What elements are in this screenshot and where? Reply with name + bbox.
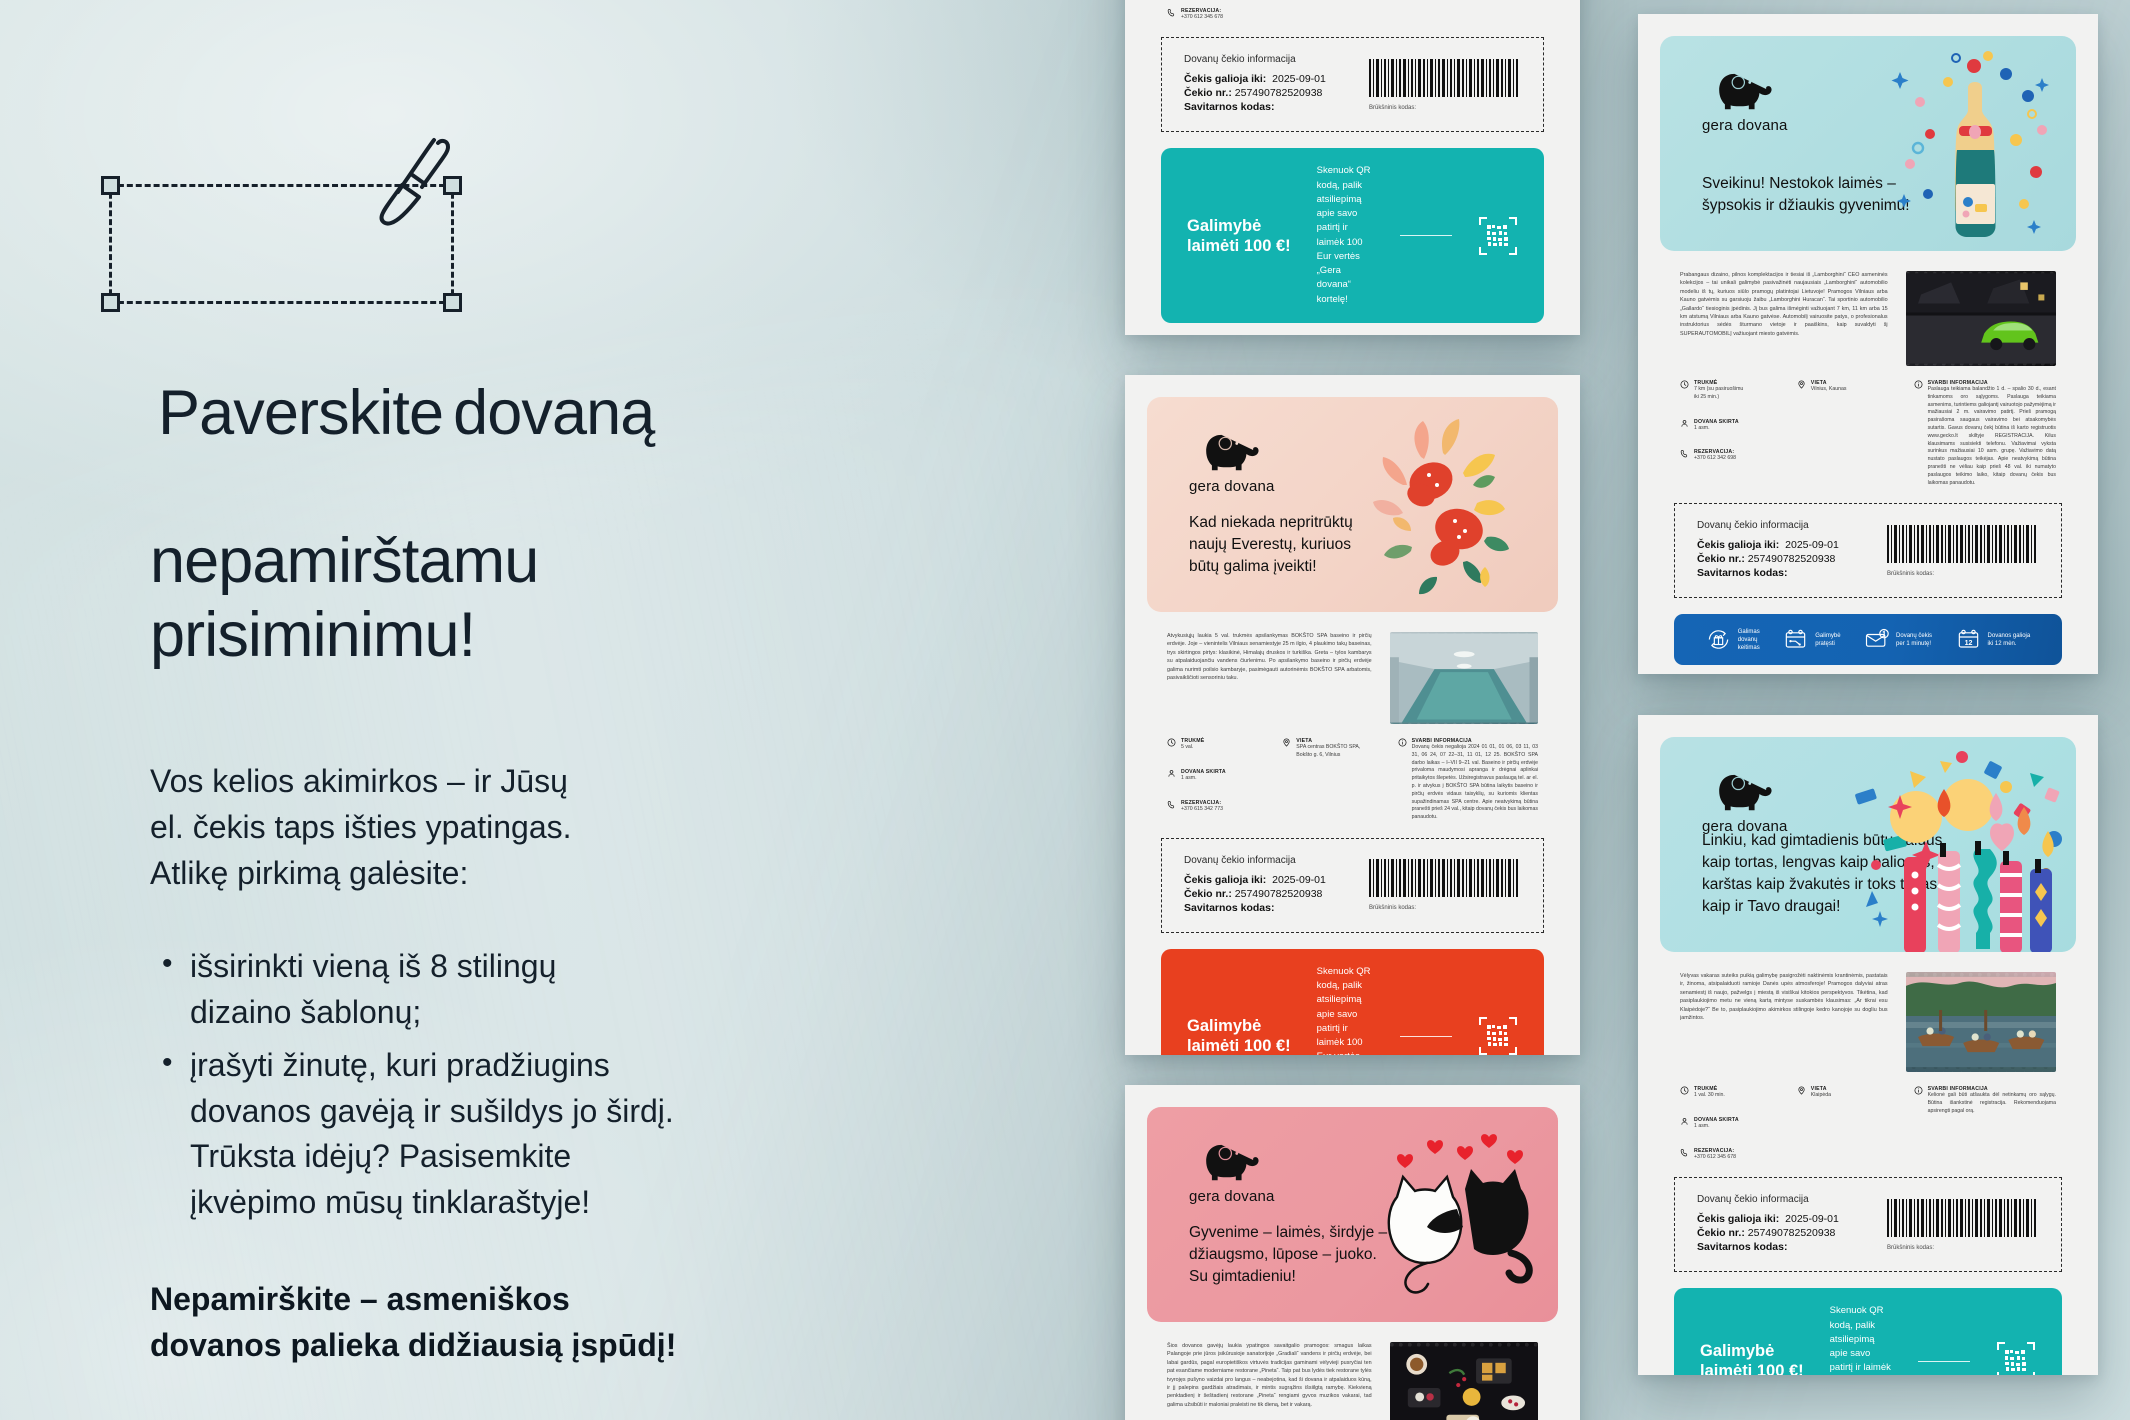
meta-recipients: DOVANA SKIRTA1 asm. xyxy=(1680,419,1787,433)
person-icon xyxy=(1680,1117,1689,1126)
brand-name: gera dovana xyxy=(1189,1188,1275,1205)
page-title: Paverskitedovaną nepamirštamu prisiminim… xyxy=(150,230,910,672)
coupon-valid-label: Čekis galioja iki: xyxy=(1697,539,1779,551)
meta-value: Paslauga teikiama balandžio 1 d. – spali… xyxy=(1928,386,2056,487)
meta-important: SVARBI INFORMACIJADovanų čekis negalioja… xyxy=(1398,738,1538,822)
promo-banner[interactable]: Galimybė laimėti 100 €! Skenuok QR kodą,… xyxy=(1161,949,1544,1055)
voucher-card-birthday-cats[interactable]: gera dovana Gyvenime – laimės, širdyje –… xyxy=(1125,1085,1580,1420)
promo-text: Skenuok QR kodą, palik atsiliepimą apie … xyxy=(1317,965,1374,1055)
brand-logo: gera dovana xyxy=(1702,771,1788,835)
meta-recipients: DOVANA SKIRTA1 asm. xyxy=(1680,1117,1787,1131)
meta-reservation: REZERVACIJA:+370 612 345 678 xyxy=(1680,1148,1787,1162)
brand-logo: gera dovana xyxy=(1702,70,1788,134)
coupon-valid-label: Čekis galioja iki: xyxy=(1697,1213,1779,1225)
meta-duration: TRUKMĖ5 val. xyxy=(1167,738,1272,752)
coupon-valid-value: 2025-09-01 xyxy=(1272,874,1326,886)
voucher-description: Prabangaus dizaino, pilnos komplektacijo… xyxy=(1680,271,1888,366)
promo-title: Galimybė laimėti 100 €! xyxy=(1187,1016,1291,1055)
coupon-number-value: 257490782520938 xyxy=(1748,553,1836,565)
promo-title: Galimybė laimėti 100 €! xyxy=(1700,1341,1804,1375)
closing-paragraph: Nepamirškite – asmeniškos dovanos paliek… xyxy=(150,1277,910,1368)
qr-code-icon[interactable] xyxy=(1478,1016,1518,1055)
meta-value: Klaipėda xyxy=(1811,1092,1831,1100)
envelope-one-minute-icon xyxy=(1864,627,1889,652)
promo-banner[interactable]: Galimybė laimėti 100 €! Skenuok QR kodą,… xyxy=(1674,1288,2062,1375)
list-item: įrašyti žinutę, kuri pradžiugins dovanos… xyxy=(150,1043,910,1225)
voucher-description: Atvykusiųjų laukia 5 val. trukmės apsila… xyxy=(1167,632,1372,724)
voucher-body: Prabangaus dizaino, pilnos komplektacijo… xyxy=(1660,251,2076,366)
meta-label: DOVANA SKIRTA xyxy=(1694,1117,1739,1123)
coupon-block: Dovanų čekio informacija Čekis galioja i… xyxy=(1161,838,1544,933)
info-icon xyxy=(1914,1086,1923,1095)
coupon-selfservice-label: Savitarnos kodas: xyxy=(1697,567,1787,579)
meta-important: SVARBI INFORMACIJAKelionė gali būti atša… xyxy=(1914,1086,2056,1115)
promo-divider xyxy=(1400,1036,1452,1037)
calendar-extend-icon xyxy=(1783,627,1808,652)
headline-line1-rest: dovaną xyxy=(453,378,654,448)
meta-label: DOVANA SKIRTA xyxy=(1181,769,1226,775)
voucher-card-everest[interactable]: gera dovana Kad niekada nepritrūktų nauj… xyxy=(1125,375,1580,1055)
promo-divider xyxy=(1400,235,1452,236)
coupon-selfservice-label: Savitarnos kodas: xyxy=(1184,902,1274,914)
meta-place: VIETASPA centras BOKŠTO SPA, Bokšto g. 6… xyxy=(1282,738,1387,760)
calendar-12-icon: 12 xyxy=(1956,627,1981,652)
benefit-gift-exchange: Galimas dovanų keitimas xyxy=(1706,627,1760,652)
qr-code-icon[interactable] xyxy=(1478,216,1518,256)
barcode-icon xyxy=(1887,1199,2039,1237)
autumn-flowers-illustration xyxy=(1359,411,1524,601)
coupon-title: Dovanų čekio informacija xyxy=(1697,520,1839,531)
list-item: išsirinkti vieną iš 8 stilingų dizaino š… xyxy=(150,944,910,1035)
meta-value: 5 val. xyxy=(1181,744,1204,752)
meta-important: SVARBI INFORMACIJAPaslauga teikiama bala… xyxy=(1914,380,2056,487)
meta-label: DOVANA SKIRTA xyxy=(1694,419,1739,425)
voucher-hero: gera dovana Kad niekada nepritrūktų nauj… xyxy=(1147,397,1558,612)
promo-divider xyxy=(1918,1361,1970,1362)
coupon-valid-value: 2025-09-01 xyxy=(1785,539,1839,551)
indoor-swimming-pool-photo xyxy=(1390,632,1538,724)
headline-selected-word: Paverskite xyxy=(150,377,453,451)
brand-name: gera dovana xyxy=(1189,478,1275,495)
meta-duration: TRUKMĖ7 km (su pasiruošimu iki 25 min.) xyxy=(1680,380,1787,402)
promo-title: Galimybė laimėti 100 €! xyxy=(1187,216,1291,256)
brand-logo: gera dovana xyxy=(1189,1141,1275,1205)
meta-label: REZERVACIJA: xyxy=(1181,8,1223,14)
meta-value: 7 km (su pasiruošimu iki 25 min.) xyxy=(1694,386,1743,402)
meta-reservation: REZERVACIJA:+370 612 342 698 xyxy=(1680,449,1787,463)
meta-value: +370 612 345 678 xyxy=(1181,14,1223,22)
feature-bullet-list: išsirinkti vieną iš 8 stilingų dizaino š… xyxy=(150,944,910,1225)
brand-logo: gera dovana xyxy=(1189,431,1275,495)
voucher-hero: gera dovana Sveikinu! Nestokok laimės – … xyxy=(1660,36,2076,251)
greeting-message: Gyvenime – laimės, širdyje – džiaugsmo, … xyxy=(1189,1222,1387,1288)
voucher-meta-row: TRUKMĖ7 km (su pasiruošimu iki 25 min.) … xyxy=(1660,366,2076,487)
elephant-icon xyxy=(1201,431,1263,475)
coupon-title: Dovanų čekio informacija xyxy=(1697,1194,1839,1205)
voucher-body: Šios dovanos gavėjų laukia ypatingos sav… xyxy=(1147,1322,1558,1420)
meta-value: 1 val. 30 min. xyxy=(1694,1092,1725,1100)
voucher-card-champagne[interactable]: gera dovana Sveikinu! Nestokok laimės – … xyxy=(1638,14,2098,674)
person-icon xyxy=(1680,419,1689,428)
canoe-river-photo xyxy=(1906,972,2056,1072)
meta-value: +370 612 342 698 xyxy=(1694,455,1736,463)
voucher-hero: gera dovana Gyvenime – laimės, širdyje –… xyxy=(1147,1107,1558,1322)
voucher-body: Vėlyvas vakaras suteiks puikią galimybę … xyxy=(1660,952,2076,1072)
phone-icon xyxy=(1680,449,1689,458)
voucher-description: Šios dovanos gavėjų laukia ypatingos sav… xyxy=(1167,1342,1372,1420)
meta-duration: TRUKMĖ1 val. 30 min. xyxy=(1680,1086,1787,1100)
meta-label: REZERVACIJA: xyxy=(1181,800,1223,806)
benefit-12-months: 12 Dovanos galioja iki 12 mėn. xyxy=(1956,627,2031,652)
elephant-icon xyxy=(1714,70,1776,114)
green-sports-car-photo xyxy=(1906,271,2056,366)
barcode-icon xyxy=(1369,859,1521,897)
promo-banner[interactable]: Galimybė laimėti 100 €! Skenuok QR kodą,… xyxy=(1161,148,1544,323)
meta-place: VIETAKlaipėda xyxy=(1797,1086,1904,1100)
coupon-number-value: 257490782520938 xyxy=(1235,888,1323,900)
benefit-label: Dovanos galioja iki 12 mėn. xyxy=(1988,632,2031,648)
coupon-block: Dovanų čekio informacija Čekis galioja i… xyxy=(1674,503,2062,598)
meta-label: REZERVACIJA: xyxy=(1694,1148,1736,1154)
phone-icon xyxy=(1167,800,1176,809)
meta-value: +370 612 345 678 xyxy=(1694,1154,1736,1162)
meta-value: 1 asm. xyxy=(1694,1123,1739,1131)
voucher-card-top-center[interactable]: TRUKMĖ1 val. 30 min. DOVANA SKIRTA1 asm.… xyxy=(1125,0,1580,335)
meta-value: SPA centras BOKŠTO SPA, Bokšto g. 6, Vil… xyxy=(1296,744,1360,760)
gift-exchange-icon xyxy=(1706,627,1731,652)
barcode-icon xyxy=(1369,59,1521,97)
headline-block: Paverskitedovaną nepamirštamu prisiminim… xyxy=(150,230,910,672)
barcode-icon xyxy=(1887,525,2039,563)
coupon-number-label: Čekio nr.: xyxy=(1184,888,1232,900)
person-icon xyxy=(1167,769,1176,778)
meta-reservation: REZERVACIJA:+370 615 342 773 xyxy=(1167,800,1272,814)
meta-value: 1 asm. xyxy=(1181,775,1226,783)
headline-line3: prisiminimu! xyxy=(150,600,475,670)
voucher-meta-row: TRUKMĖ1 val. 30 min. DOVANA SKIRTA1 asm.… xyxy=(1147,0,1558,21)
svg-text:12: 12 xyxy=(1964,639,1972,647)
benefit-one-minute: Dovanų čekis per 1 minutę! xyxy=(1864,627,1932,652)
coupon-number-value: 257490782520938 xyxy=(1748,1227,1836,1239)
voucher-description: Vėlyvas vakaras suteiks puikią galimybę … xyxy=(1680,972,1888,1072)
info-icon xyxy=(1914,380,1923,389)
elephant-icon xyxy=(1201,1141,1263,1185)
meta-value: Dovanų čekis negalioja 2024 01 01, 01 06… xyxy=(1412,744,1538,822)
voucher-hero: gera dovana Linkiu, kad gimtadienis būtų… xyxy=(1660,737,2076,952)
voucher-meta-row: TRUKMĖ1 val. 30 min. DOVANA SKIRTA1 asm.… xyxy=(1660,1072,2076,1161)
coupon-title: Dovanų čekio informacija xyxy=(1184,855,1326,866)
brand-name: gera dovana xyxy=(1702,117,1788,134)
birthday-candles-illustration xyxy=(1840,745,2070,952)
qr-code-icon[interactable] xyxy=(1996,1341,2036,1375)
benefit-extend: Galimybė pratęsti xyxy=(1783,627,1840,652)
location-pin-icon xyxy=(1797,380,1806,389)
coupon-number-label: Čekio nr.: xyxy=(1184,87,1232,99)
barcode-label: Brūkšninis kodas: xyxy=(1369,905,1521,911)
phone-icon xyxy=(1680,1148,1689,1157)
meta-place: VIETAVilnius, Kaunas xyxy=(1797,380,1904,394)
meta-value: Kelionė gali būti atšaukta dėl netinkamų… xyxy=(1928,1092,2056,1115)
paintbrush-icon xyxy=(378,137,452,227)
voucher-meta-row: TRUKMĖ5 val. DOVANA SKIRTA1 asm. REZERVA… xyxy=(1147,724,1558,822)
coupon-selfservice-label: Savitarnos kodas: xyxy=(1697,1241,1787,1253)
elephant-icon xyxy=(1714,771,1776,815)
voucher-body: Atvykusiųjų laukia 5 val. trukmės apsila… xyxy=(1147,612,1558,724)
promo-text: Skenuok QR kodą, palik atsiliepimą apie … xyxy=(1830,1304,1892,1375)
marketing-copy-column: Paverskitedovaną nepamirštamu prisiminim… xyxy=(150,230,910,1368)
coupon-valid-label: Čekis galioja iki: xyxy=(1184,73,1266,85)
coupon-number-label: Čekio nr.: xyxy=(1697,553,1745,565)
coupon-valid-value: 2025-09-01 xyxy=(1785,1213,1839,1225)
meta-recipients: DOVANA SKIRTA1 asm. xyxy=(1167,769,1272,783)
info-icon xyxy=(1398,738,1407,747)
clock-icon xyxy=(1680,380,1689,389)
coupon-block: Dovanų čekio informacija Čekis galioja i… xyxy=(1674,1177,2062,1272)
clock-icon xyxy=(1167,738,1176,747)
meta-reservation: REZERVACIJA:+370 612 345 678 xyxy=(1167,8,1272,22)
coupon-number-value: 257490782520938 xyxy=(1235,87,1323,99)
location-pin-icon xyxy=(1797,1086,1806,1095)
coupon-block: Dovanų čekio informacija Čekis galioja i… xyxy=(1161,37,1544,132)
promo-text: Skenuok QR kodą, palik atsiliepimą apie … xyxy=(1317,164,1374,307)
benefit-label: Galimybė pratęsti xyxy=(1815,632,1840,648)
benefit-label: Dovanų čekis per 1 minutę! xyxy=(1896,632,1932,648)
voucher-card-birthday-candles[interactable]: gera dovana Linkiu, kad gimtadienis būtų… xyxy=(1638,715,2098,1375)
meta-value: 1 asm. xyxy=(1694,425,1739,433)
coupon-number-label: Čekio nr.: xyxy=(1697,1227,1745,1239)
coupon-valid-value: 2025-09-01 xyxy=(1272,73,1326,85)
brunch-table-photo xyxy=(1390,1342,1538,1420)
intro-paragraph: Vos kelios akimirkos – ir Jūsų el. čekis… xyxy=(150,758,910,896)
barcode-label: Brūkšninis kodas: xyxy=(1887,571,2039,577)
coupon-selfservice-label: Savitarnos kodas: xyxy=(1184,101,1274,113)
coupon-valid-label: Čekis galioja iki: xyxy=(1184,874,1266,886)
barcode-label: Brūkšninis kodas: xyxy=(1369,105,1521,111)
barcode-label: Brūkšninis kodas: xyxy=(1887,1245,2039,1251)
benefit-label: Galimas dovanų keitimas xyxy=(1738,628,1760,652)
greeting-message: Kad niekada nepritrūktų naujų Everestų, … xyxy=(1189,512,1353,578)
headline-line2: nepamirštamu xyxy=(150,526,538,596)
benefits-bar: Galimas dovanų keitimas Galimybė pratęst… xyxy=(1674,614,2062,665)
champagne-confetti-illustration xyxy=(1856,44,2056,244)
hugging-cats-illustration xyxy=(1361,1131,1536,1296)
meta-value: +370 615 342 773 xyxy=(1181,806,1223,814)
clock-icon xyxy=(1680,1086,1689,1095)
phone-icon xyxy=(1167,8,1176,17)
location-pin-icon xyxy=(1282,738,1291,747)
meta-value: Vilnius, Kaunas xyxy=(1811,386,1847,394)
coupon-title: Dovanų čekio informacija xyxy=(1184,54,1326,65)
